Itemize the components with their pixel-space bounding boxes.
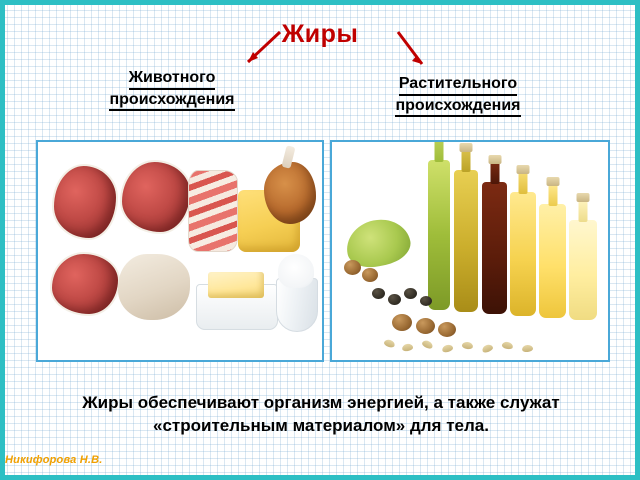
slide-border-top (0, 0, 640, 5)
walnut-illustration (362, 268, 378, 282)
author-credit: Никифорова Н.В. (5, 454, 103, 466)
butter-illustration (208, 272, 264, 298)
arrow-to-vegetable-icon (388, 30, 448, 80)
heading-vegetable-line2: происхождения (395, 96, 520, 118)
walnut-illustration (344, 260, 361, 275)
oil-bottle-illustration (539, 204, 566, 318)
image-animal-fats (36, 140, 324, 362)
seed-illustration (421, 339, 434, 350)
oil-bottle-illustration (454, 170, 478, 312)
olive-illustration (420, 296, 432, 306)
seed-illustration (501, 341, 513, 350)
chicken-leg-illustration (264, 162, 316, 224)
bacon-illustration (188, 170, 238, 252)
cream-illustration (278, 254, 314, 288)
steak-illustration (52, 164, 118, 240)
seed-illustration (481, 343, 494, 354)
olive-illustration (372, 288, 385, 299)
seed-illustration (383, 338, 396, 348)
seed-illustration (441, 344, 454, 354)
heading-vegetable-line1: Растительного (399, 74, 517, 96)
seed-illustration (462, 341, 474, 349)
walnut-illustration (438, 322, 456, 337)
heading-animal: Животного происхождения (62, 68, 282, 111)
heading-animal-line1: Животного (129, 68, 216, 90)
slide-border-right (635, 0, 640, 480)
image-vegetable-fats (330, 140, 610, 362)
walnut-illustration (392, 314, 412, 331)
olive-illustration (388, 294, 401, 305)
heading-animal-line2: происхождения (109, 90, 234, 112)
caption: Жиры обеспечивают организм энергией, а т… (30, 392, 612, 438)
slide-border-bottom (0, 475, 640, 480)
slide: Жиры Животного происхождения Растительно… (0, 0, 640, 480)
slide-border-left (0, 0, 5, 480)
heading-vegetable: Растительного происхождения (338, 74, 578, 117)
oil-bottle-illustration (510, 192, 536, 316)
oil-bottle-illustration (482, 182, 507, 314)
seed-illustration (522, 344, 534, 352)
steak-illustration (120, 160, 192, 234)
seed-illustration (401, 343, 413, 352)
caption-line3: для тела. (410, 416, 489, 435)
oil-bottle-illustration (569, 220, 597, 320)
olive-illustration (404, 288, 417, 299)
oil-bottle-illustration (428, 160, 450, 310)
page-title: Жиры (0, 20, 640, 49)
lard-illustration (118, 254, 190, 320)
steak-illustration (50, 252, 120, 316)
caption-line1: Жиры обеспечивают организм энергией, а (82, 393, 443, 412)
walnut-illustration (416, 318, 435, 334)
